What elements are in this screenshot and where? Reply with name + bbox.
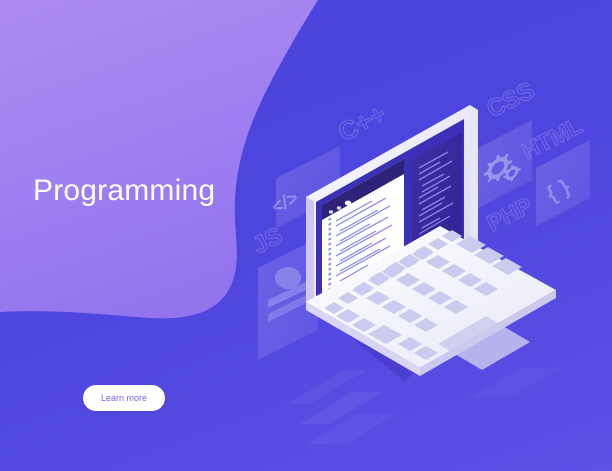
motion-streaks bbox=[288, 368, 560, 444]
illustration-banner: </> bbox=[0, 0, 612, 471]
learn-more-button[interactable]: Learn more bbox=[83, 385, 165, 411]
page-title: Programming bbox=[33, 174, 215, 208]
label-css: CSS bbox=[482, 77, 538, 123]
label-js: JS bbox=[248, 222, 286, 259]
label-cpp: C++ bbox=[333, 98, 390, 147]
laptop-bezel-left-edge bbox=[306, 197, 314, 302]
